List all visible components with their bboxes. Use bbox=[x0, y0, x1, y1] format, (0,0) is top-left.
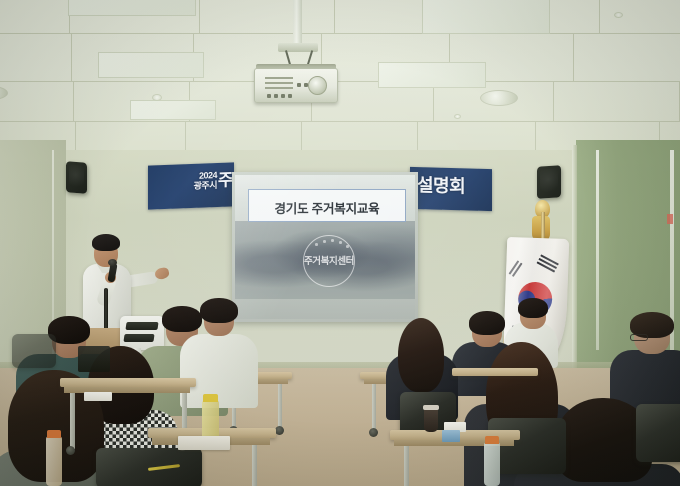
left-event-banner: 2024 광주시 주 bbox=[148, 162, 234, 209]
desk-leg bbox=[404, 446, 409, 486]
banner-right-label: 설명회 bbox=[417, 175, 465, 196]
smoke-detector bbox=[152, 94, 162, 101]
slide-logo-dot bbox=[331, 239, 334, 242]
blind-clip bbox=[667, 214, 673, 224]
desk-caster bbox=[369, 428, 378, 437]
desk-caster bbox=[66, 446, 75, 455]
projection-screen: 경기도 주거복지교육 주거복지센터 bbox=[232, 172, 418, 322]
handout-paper bbox=[84, 392, 112, 401]
beverage-bottle-orange bbox=[484, 442, 500, 486]
acoustic-ceiling-tile bbox=[574, 34, 680, 82]
slide-title-box: 경기도 주거복지교육 bbox=[248, 189, 406, 222]
air-diffuser bbox=[480, 90, 518, 106]
desk-leg bbox=[252, 445, 257, 486]
desk bbox=[60, 378, 196, 387]
microphone-capsule-icon bbox=[108, 259, 117, 266]
coffee-cup bbox=[424, 408, 438, 432]
desk bbox=[452, 368, 538, 376]
wall-speaker-left bbox=[66, 161, 87, 193]
small-box bbox=[442, 430, 460, 442]
desk-caster bbox=[275, 426, 284, 435]
recessed-light-panel bbox=[68, 0, 196, 16]
acoustic-ceiling-tile bbox=[600, 0, 680, 34]
slide-watermark-logo-text: 주거복지센터 bbox=[291, 253, 367, 267]
chair-slot bbox=[125, 322, 158, 330]
acoustic-ceiling-tile bbox=[0, 0, 70, 34]
wall-corner-right bbox=[572, 145, 577, 390]
slide-logo-dot bbox=[339, 241, 342, 244]
attendee-hair bbox=[518, 298, 548, 318]
projector-button bbox=[304, 83, 308, 87]
recessed-light-panel bbox=[422, 0, 550, 34]
blind-seam bbox=[596, 150, 599, 350]
right-event-banner: 설명회 bbox=[410, 167, 492, 211]
projector-button bbox=[297, 83, 301, 87]
attendee-shoulders bbox=[180, 334, 258, 408]
bottle-cap bbox=[485, 436, 499, 444]
seminar-room-photo: 2024 광주시 주 설명회 경기도 주거복지교육 주거복지센터 bbox=[0, 0, 680, 486]
slide-logo-dot bbox=[315, 243, 318, 246]
projector-button bbox=[281, 94, 285, 98]
chair-back bbox=[636, 404, 680, 462]
slide-logo-dot bbox=[346, 245, 349, 248]
projection-screen-surface: 경기도 주거복지교육 주거복지센터 bbox=[235, 175, 415, 319]
projector-button bbox=[274, 94, 278, 98]
banner-city-label: 광주시 bbox=[194, 180, 217, 191]
beverage-bottle-yellow bbox=[202, 400, 219, 440]
ceiling-projector bbox=[254, 68, 338, 103]
chair-back bbox=[12, 334, 56, 368]
speaker-grille-icon bbox=[69, 164, 84, 190]
projector-vent bbox=[265, 77, 293, 79]
banner-partial-word: 주 bbox=[218, 171, 233, 190]
projector-button bbox=[267, 94, 271, 98]
recessed-light-panel bbox=[98, 52, 204, 78]
projector-lens-icon bbox=[308, 76, 327, 95]
slide-title: 경기도 주거복지교육 bbox=[249, 198, 405, 217]
notebook bbox=[178, 436, 230, 450]
beverage-bottle-orange bbox=[46, 436, 62, 486]
attendee-hair bbox=[200, 298, 238, 323]
recessed-light-panel bbox=[130, 100, 216, 120]
bottle-cap bbox=[203, 394, 218, 402]
desk-leg bbox=[70, 393, 75, 449]
attendee-hair bbox=[398, 318, 444, 392]
coffee-cup-lid bbox=[423, 405, 439, 410]
smoke-detector bbox=[614, 12, 623, 18]
attendee-hair bbox=[469, 311, 505, 335]
desk-apron bbox=[64, 387, 190, 393]
wall-speaker-right bbox=[537, 165, 561, 199]
projector-vent bbox=[265, 82, 293, 84]
slide-logo-dot bbox=[323, 240, 326, 243]
projector-vent bbox=[265, 87, 293, 89]
projector-button bbox=[288, 94, 292, 98]
chair-slot bbox=[123, 334, 154, 342]
desk-leg bbox=[372, 384, 376, 430]
acoustic-ceiling-tile bbox=[0, 34, 72, 82]
presenter-hair bbox=[92, 234, 120, 251]
eyeglasses-icon bbox=[630, 334, 648, 341]
desk-leg bbox=[278, 384, 282, 428]
attendee-hair bbox=[162, 306, 202, 332]
speaker-grille-icon bbox=[540, 168, 558, 195]
bottle-cap bbox=[47, 430, 61, 438]
recessed-light-panel bbox=[378, 62, 486, 88]
monitor bbox=[78, 346, 110, 372]
smoke-detector bbox=[454, 114, 461, 119]
acoustic-ceiling-tile bbox=[0, 82, 74, 122]
acoustic-ceiling-tile bbox=[200, 0, 335, 34]
projector-mount-pole bbox=[293, 0, 302, 46]
acoustic-ceiling-tile bbox=[554, 82, 680, 122]
